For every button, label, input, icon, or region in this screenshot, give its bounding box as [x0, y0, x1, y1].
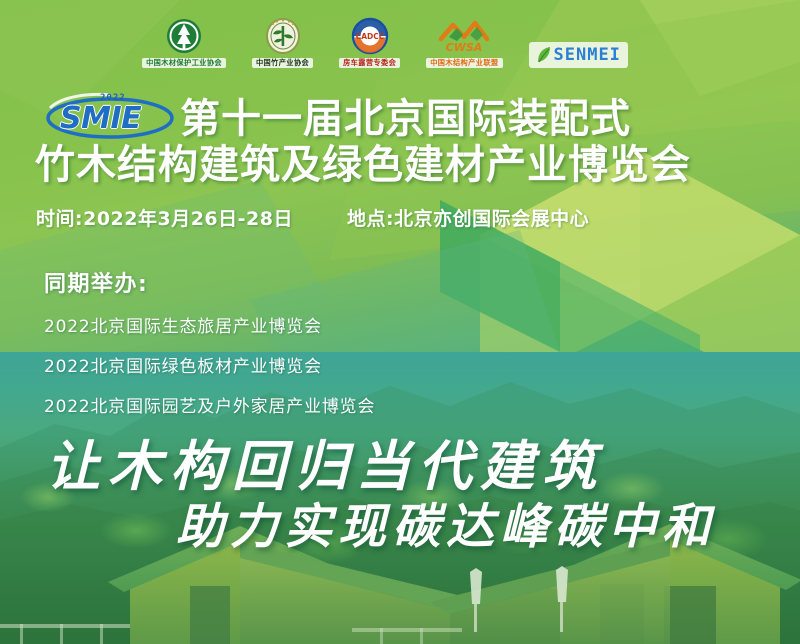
- concurrent-events: 同期举办: 2022北京国际生态旅居产业博览会 2022北京国际绿色板材产业博览…: [44, 266, 375, 432]
- pine-tree-emblem-icon: [164, 17, 204, 57]
- sponsor-label: 中国木结构产业联盟: [426, 58, 502, 68]
- sponsor-logo-strip: 中国木材保护工业协会 中国竹产业协会: [0, 8, 800, 70]
- expo-poster: 中国木材保护工业协会 中国竹产业协会: [0, 0, 800, 644]
- event-meta: 时间:2022年3月26日-28日 地点:北京亦创国际会展中心: [36, 204, 589, 231]
- house-roof-cwsa-icon: CWSA: [437, 17, 491, 57]
- sponsor-label: 中国木材保护工业协会: [142, 58, 226, 68]
- concurrent-events-title: 同期举办:: [44, 266, 375, 298]
- senmei-wordmark: SENMEI: [554, 45, 621, 65]
- headline-line-1: 第十一届北京国际装配式: [180, 96, 631, 142]
- headline-line-2: 竹木结构建筑及绿色建材产业博览会: [35, 142, 691, 188]
- sponsor-logo-cadcc-rv-camping-committee[interactable]: CADCC 房车露营专委会: [339, 10, 400, 68]
- concurrent-event-item: 2022北京国际园艺及户外家居产业博览会: [44, 392, 375, 417]
- sponsor-logo-cwsa-china-wood-structure-alliance[interactable]: CWSA 中国木结构产业联盟: [426, 10, 502, 68]
- sponsor-logo-bamboo-industry-association[interactable]: 中国竹产业协会: [252, 10, 313, 68]
- smie-logo[interactable]: 2022 SMIE: [44, 92, 176, 140]
- svg-text:CADCC: CADCC: [355, 32, 384, 41]
- smie-wordmark: SMIE: [60, 101, 141, 136]
- bamboo-medal-icon: [264, 17, 302, 57]
- event-date: 时间:2022年3月26日-28日: [36, 204, 293, 231]
- sponsor-label: 房车露营专委会: [339, 58, 400, 68]
- sponsor-logo-senmei[interactable]: SENMEI: [529, 10, 628, 68]
- cadcc-circle-icon: CADCC: [350, 17, 390, 57]
- sponsor-logo-china-wood-protection-industry-association[interactable]: 中国木材保护工业协会: [142, 10, 226, 68]
- concurrent-event-item: 2022北京国际绿色板材产业博览会: [44, 352, 375, 377]
- svg-text:CWSA: CWSA: [446, 41, 483, 54]
- sponsor-label: 中国竹产业协会: [252, 58, 313, 68]
- slogan-line-2: 助力实现碳达峰碳中和: [176, 487, 716, 557]
- concurrent-event-item: 2022北京国际生态旅居产业博览会: [44, 312, 375, 337]
- leaf-icon: [536, 46, 552, 64]
- event-venue: 地点:北京亦创国际会展中心: [347, 204, 589, 231]
